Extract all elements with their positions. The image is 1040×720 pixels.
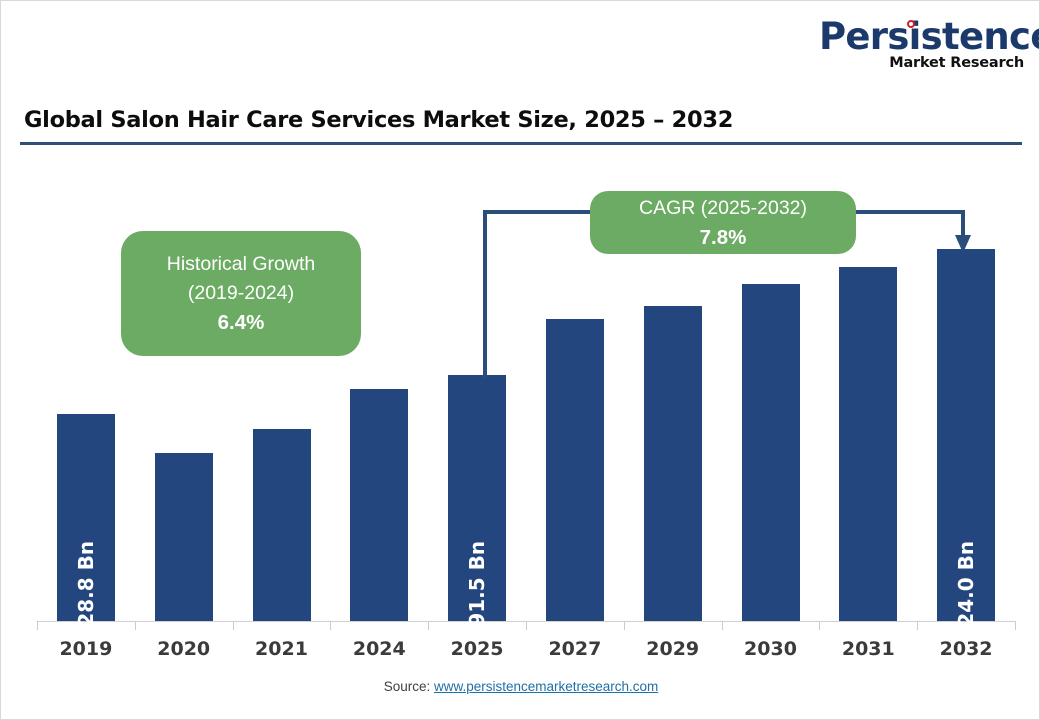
x-axis-label-2019: 2019 (37, 638, 135, 660)
bar-2029 (644, 306, 702, 621)
source-link[interactable]: www.persistencemarketresearch.com (434, 679, 658, 694)
cagr-value: 7.8% (700, 223, 747, 252)
bar-2025: US$191.5 Bn (448, 375, 506, 621)
historical-growth-line1: Historical Growth (167, 250, 315, 279)
historical-growth-value: 6.4% (218, 308, 265, 337)
bar-2030 (742, 284, 800, 621)
bar-2032: US$324.0 Bn (937, 249, 995, 621)
x-axis-tick (37, 621, 38, 630)
x-axis-label-2027: 2027 (526, 638, 624, 660)
bar-2031 (839, 267, 897, 621)
cagr-callout: CAGR (2025-2032) 7.8% (590, 191, 856, 254)
bar-value-label-2032: US$324.0 Bn (954, 541, 978, 685)
x-axis-label-2032: 2032 (917, 638, 1015, 660)
x-axis-tick (233, 621, 234, 630)
bar-2021 (253, 429, 311, 621)
bar-chart-plot-area: US$128.8 BnUS$191.5 BnUS$324.0 Bn 201920… (1, 1, 1040, 720)
x-axis-tick (917, 621, 918, 630)
historical-growth-callout: Historical Growth (2019-2024) 6.4% (121, 231, 361, 356)
x-axis-label-2031: 2031 (819, 638, 917, 660)
x-axis-tick (1015, 621, 1016, 630)
x-axis-tick (526, 621, 527, 630)
x-axis-tick (819, 621, 820, 630)
bar-2020 (155, 453, 213, 621)
x-axis-tick (428, 621, 429, 630)
x-axis-tick (624, 621, 625, 630)
x-axis-label-2021: 2021 (233, 638, 331, 660)
x-axis-label-2020: 2020 (135, 638, 233, 660)
x-axis-tick (722, 621, 723, 630)
source-note: Source: www.persistencemarketresearch.co… (1, 679, 1040, 694)
x-axis-tick (330, 621, 331, 630)
x-axis-tick (135, 621, 136, 630)
source-prefix: Source: (384, 679, 434, 694)
x-axis-label-2030: 2030 (722, 638, 820, 660)
bar-2024 (350, 389, 408, 621)
bar-2019: US$128.8 Bn (57, 414, 115, 621)
bar-2027 (546, 319, 604, 621)
x-axis-label-2024: 2024 (330, 638, 428, 660)
chart-canvas: Persistence Market Research Global Salon… (0, 0, 1040, 720)
x-axis-label-2029: 2029 (624, 638, 722, 660)
x-axis-label-2025: 2025 (428, 638, 526, 660)
bar-value-label-2019: US$128.8 Bn (74, 541, 98, 685)
cagr-line1: CAGR (2025-2032) (639, 194, 807, 223)
historical-growth-line2: (2019-2024) (188, 279, 294, 308)
bar-value-label-2025: US$191.5 Bn (465, 541, 489, 685)
